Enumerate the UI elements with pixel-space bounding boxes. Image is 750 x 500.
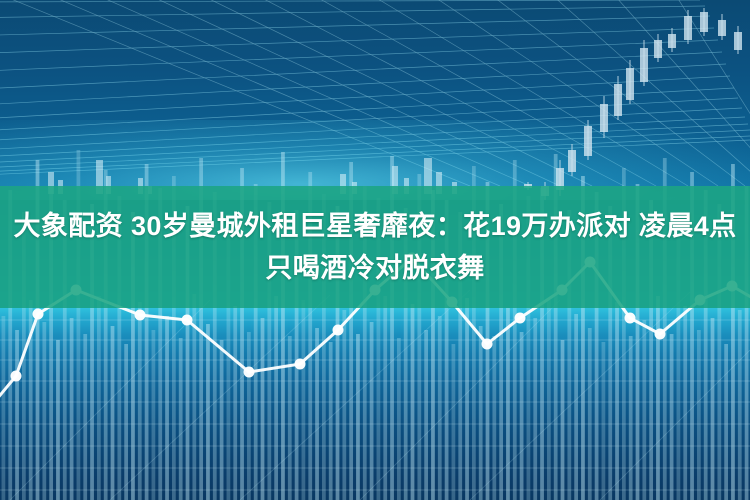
headline-band-overlay: [0, 186, 750, 308]
banner-image: 大象配资 30岁曼城外租巨星奢靡夜：花19万办派对 凌晨4点 只喝酒冷对脱衣舞: [0, 0, 750, 500]
